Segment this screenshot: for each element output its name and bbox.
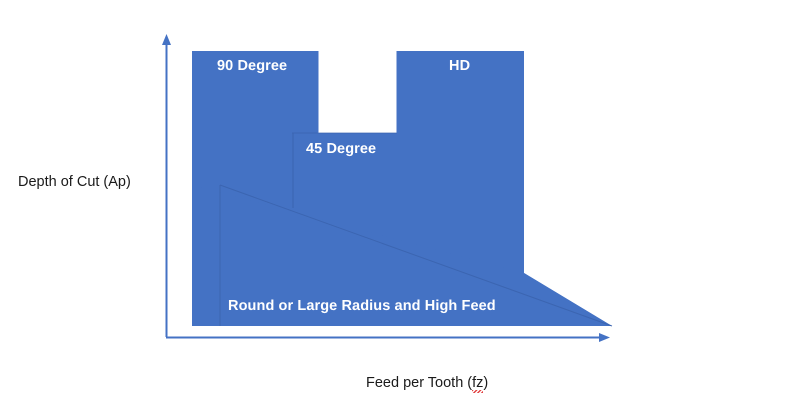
x-axis-title-prefix: Feed per Tooth ( (366, 375, 472, 391)
x-axis-title-suffix: ) (483, 375, 488, 391)
arrow-up-icon (162, 34, 171, 45)
x-axis-title: Feed per Tooth (fz) (366, 375, 488, 391)
region-round-large-radius-high-feed-label: Round or Large Radius and High Feed (228, 298, 496, 314)
diagram-graphic (0, 0, 800, 401)
region-45-degree-label: 45 Degree (306, 141, 376, 157)
arrow-right-icon (599, 333, 610, 342)
region-hd-label: HD (449, 58, 470, 74)
diagram-canvas: 90 Degree 45 Degree HD Round or Large Ra… (0, 0, 800, 401)
region-90-degree-label: 90 Degree (217, 58, 287, 74)
x-axis-title-misspelled-word: fz (472, 375, 483, 391)
region-hd-shape (397, 51, 524, 273)
y-axis-title: Depth of Cut (Ap) (18, 174, 131, 190)
